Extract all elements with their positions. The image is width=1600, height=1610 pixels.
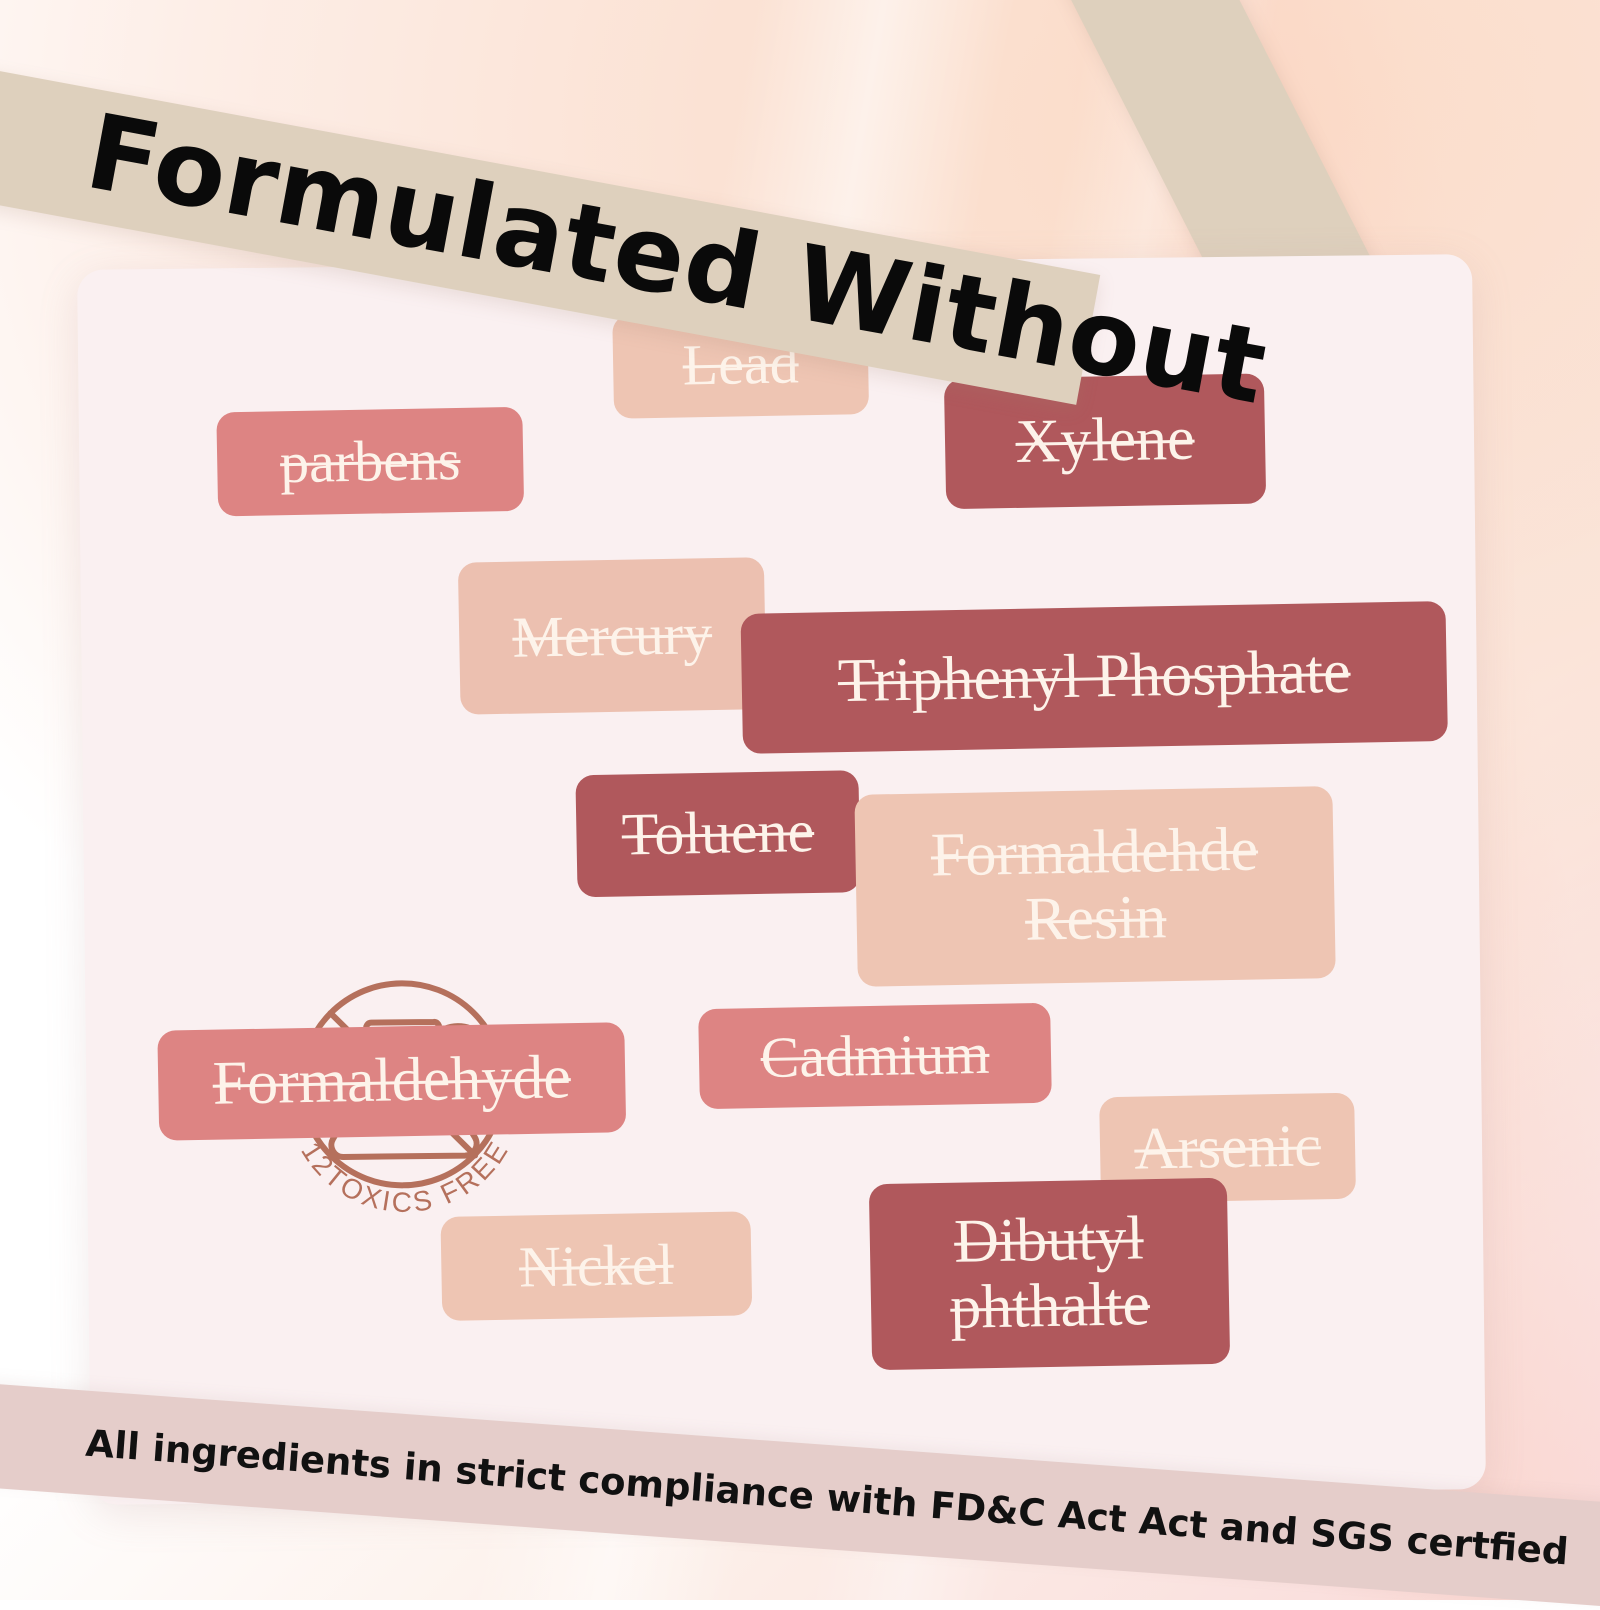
- chip-cadmium[interactable]: Cadmium: [698, 1003, 1052, 1109]
- chip-label-line2: phthalte: [950, 1272, 1151, 1341]
- chip-dibutyl-phthalte[interactable]: Dibutyl phthalte: [869, 1178, 1230, 1371]
- ingredients-card-inner: 12 12TOXICS FREE Lead parbens Xylene Mer…: [77, 254, 1486, 1505]
- badge-caption: 12TOXICS FREE: [295, 1134, 516, 1219]
- chip-label: Toluene: [621, 800, 815, 867]
- chip-nickel[interactable]: Nickel: [440, 1211, 752, 1321]
- chip-label: Xylene: [1015, 407, 1195, 476]
- chip-formaldehyde[interactable]: Formaldehyde: [157, 1022, 626, 1141]
- chip-formaldehde-resin[interactable]: Formaldehde Resin: [854, 786, 1335, 987]
- chip-label: Formaldehyde: [212, 1045, 571, 1117]
- chip-label: Cadmium: [760, 1023, 990, 1089]
- chip-label: parbens: [279, 429, 460, 494]
- chip-label: Arsenic: [1134, 1114, 1322, 1181]
- chip-triphenyl-phosphate[interactable]: Triphenyl Phosphate: [741, 601, 1448, 754]
- svg-text:12TOXICS FREE: 12TOXICS FREE: [295, 1134, 516, 1219]
- chip-toluene[interactable]: Toluene: [575, 770, 860, 897]
- chip-parbens[interactable]: parbens: [216, 407, 524, 517]
- chip-mercury[interactable]: Mercury: [458, 557, 767, 715]
- chip-label: Formaldehde: [930, 818, 1258, 890]
- chip-label-line2: Resin: [1024, 885, 1166, 953]
- ingredients-card: 12 12TOXICS FREE Lead parbens Xylene Mer…: [77, 254, 1486, 1505]
- chip-label: Triphenyl Phosphate: [837, 640, 1351, 715]
- chip-label: Nickel: [519, 1234, 675, 1298]
- chip-label: Mercury: [512, 603, 713, 668]
- chip-label: Dibutyl: [954, 1207, 1145, 1276]
